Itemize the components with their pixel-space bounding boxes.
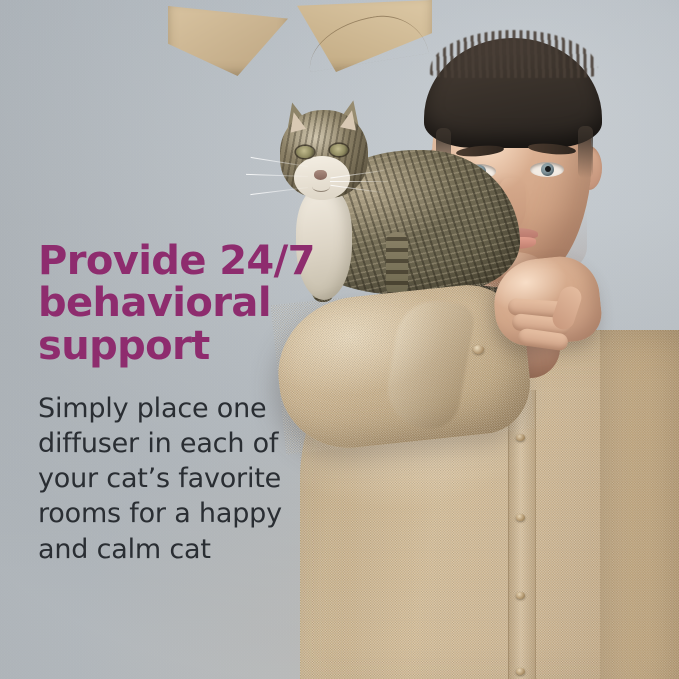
cat-eye-left	[296, 146, 314, 158]
waffle-knit-texture	[600, 330, 679, 679]
cat-eye-right	[330, 144, 348, 156]
cat-mouth	[312, 181, 330, 192]
shirt-collar-left	[168, 6, 288, 76]
shirt-button	[516, 514, 525, 521]
shirt-button	[516, 434, 525, 441]
cat-rear-leg	[386, 232, 408, 296]
shirt-button	[516, 592, 525, 599]
sleeve-button	[473, 345, 484, 354]
cat-whisker	[330, 181, 388, 182]
marketing-image: Provide 24/7 behavioral support Simply p…	[0, 0, 679, 679]
pupil	[545, 166, 551, 172]
subcopy: Simply place one diffuser in each of you…	[38, 391, 338, 566]
sideburn-right	[578, 126, 593, 178]
eye-right	[530, 162, 564, 177]
cat-leg-stripes	[386, 232, 408, 296]
cat-nose	[314, 170, 327, 180]
shirt-button	[516, 668, 525, 675]
headline: Provide 24/7 behavioral support	[38, 240, 338, 367]
copy-block: Provide 24/7 behavioral support Simply p…	[38, 240, 338, 567]
shirt-right-panel	[600, 330, 679, 679]
hair-spikes	[430, 30, 598, 78]
